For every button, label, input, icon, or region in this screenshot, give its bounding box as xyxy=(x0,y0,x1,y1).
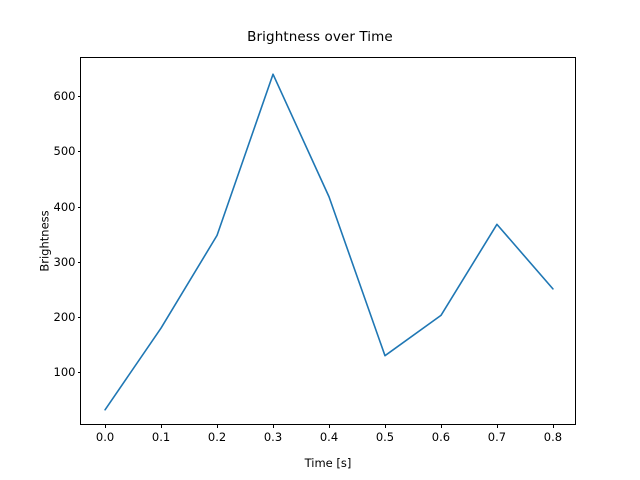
x-axis-tick-mark xyxy=(385,424,386,428)
y-axis-tick-label: 500 xyxy=(54,144,76,158)
x-axis-tick-label: 0.0 xyxy=(96,430,114,444)
figure-canvas: Brightness over Time 1002003004005006000… xyxy=(0,0,640,480)
x-axis-tick-label: 0.1 xyxy=(152,430,170,444)
y-axis-tick-label: 200 xyxy=(54,310,76,324)
x-axis-tick-label: 0.4 xyxy=(320,430,338,444)
chart-title: Brightness over Time xyxy=(0,29,640,45)
x-axis-tick-mark xyxy=(441,424,442,428)
x-axis-tick-mark xyxy=(329,424,330,428)
x-axis-tick-label: 0.2 xyxy=(208,430,226,444)
x-axis-tick-label: 0.5 xyxy=(376,430,394,444)
y-axis-tick-mark xyxy=(78,151,82,152)
x-axis-tick-mark xyxy=(161,424,162,428)
y-axis-tick-mark xyxy=(78,317,82,318)
x-axis-tick-mark xyxy=(497,424,498,428)
y-axis-tick-mark xyxy=(78,372,82,373)
x-axis-tick-label: 0.6 xyxy=(432,430,450,444)
plot-area: 1002003004005006000.00.10.20.30.40.50.60… xyxy=(80,57,576,425)
y-axis-tick-label: 100 xyxy=(54,365,76,379)
y-axis-tick-label: 300 xyxy=(54,255,76,269)
x-axis-label: Time [s] xyxy=(80,456,576,470)
line-series-svg xyxy=(81,58,577,426)
plot-inner: 1002003004005006000.00.10.20.30.40.50.60… xyxy=(81,58,575,424)
line-series-brightness xyxy=(105,74,553,410)
y-axis-tick-mark xyxy=(78,207,82,208)
y-axis-tick-label: 400 xyxy=(54,200,76,214)
x-axis-tick-mark xyxy=(553,424,554,428)
x-axis-tick-label: 0.8 xyxy=(544,430,562,444)
y-axis-tick-label: 600 xyxy=(54,89,76,103)
x-axis-tick-mark xyxy=(105,424,106,428)
x-axis-tick-mark xyxy=(273,424,274,428)
x-axis-tick-label: 0.7 xyxy=(488,430,506,444)
y-axis-tick-mark xyxy=(78,262,82,263)
x-axis-tick-label: 0.3 xyxy=(264,430,282,444)
y-axis-label: Brightness xyxy=(38,210,52,271)
x-axis-tick-mark xyxy=(217,424,218,428)
y-axis-tick-mark xyxy=(78,96,82,97)
